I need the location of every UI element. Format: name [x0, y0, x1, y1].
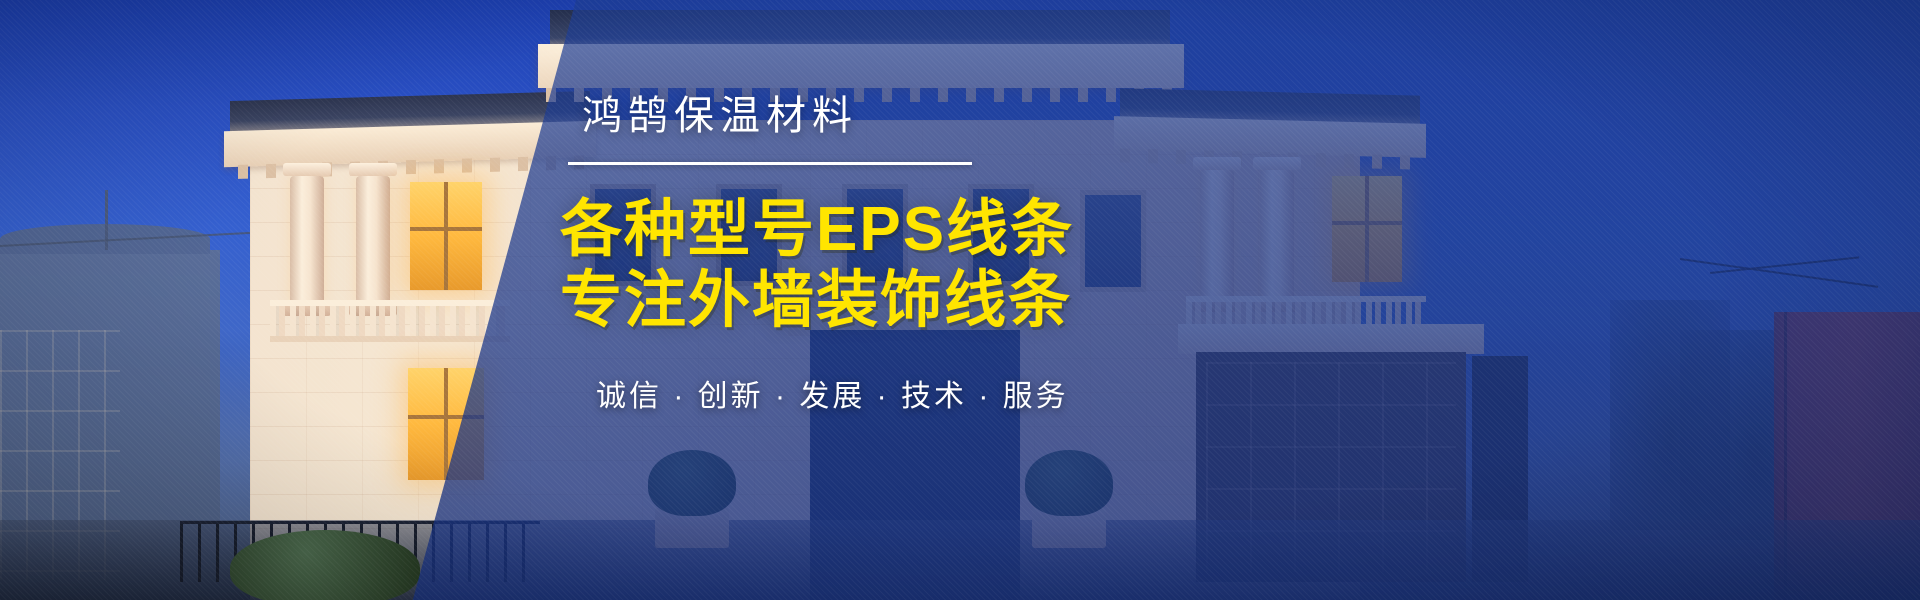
shrub-foreground — [230, 530, 420, 600]
headline-line-1: 各种型号EPS线条 — [560, 197, 1540, 264]
balustrade-left-upper — [270, 300, 510, 342]
window-left-upper — [410, 182, 482, 290]
column-left-2 — [356, 176, 390, 304]
divider-rule — [568, 162, 972, 165]
promo-banner: 鸿鹄保温材料 各种型号EPS线条 专注外墙装饰线条 诚信 · 创新 · 发展 ·… — [0, 0, 1920, 600]
tagline: 诚信 · 创新 · 发展 · 技术 · 服务 — [596, 371, 1540, 415]
brand-name: 鸿鹄保温材料 — [582, 96, 1540, 136]
column-left-1 — [290, 176, 324, 304]
banner-copy: 鸿鹄保温材料 各种型号EPS线条 专注外墙装饰线条 诚信 · 创新 · 发展 ·… — [560, 96, 1540, 415]
headline-line-2: 专注外墙装饰线条 — [560, 268, 1540, 335]
